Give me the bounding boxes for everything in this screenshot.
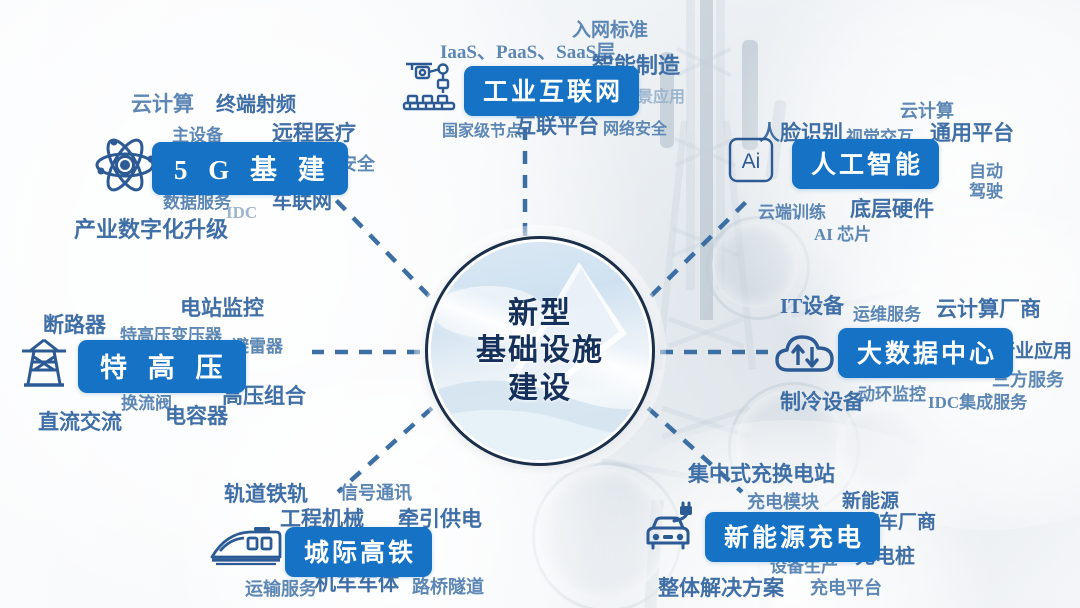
keyword-ai-8: AI 芯片	[814, 220, 871, 245]
keyword-ii-6: 网络安全	[603, 115, 667, 139]
keyword-ne-7: 整体解决方案	[658, 572, 784, 602]
keyword-ne-1: 充电模块	[747, 488, 819, 514]
keyword-rail-1: 信号通讯	[340, 479, 412, 505]
sector-artificial-intelligence[interactable]: 云计算 人脸识别 视觉交互 通用平台 自动 驾驶 云端训练 底层硬件 AI 芯片…	[710, 95, 1080, 245]
atom-icon	[94, 134, 156, 196]
keyword-5g-8: 产业数字化升级	[74, 212, 228, 244]
sector-label-artificial-intelligence[interactable]: 人工智能	[792, 139, 939, 189]
sector-new-energy-charging[interactable]: 集中式充换电站 充电模块 新能源 汽车厂商 充电桩 设备生产 充电平台 整体解决…	[620, 450, 960, 605]
keyword-ii-4: 国家级节点	[442, 117, 522, 141]
keyword-bd-5: IDC集成服务	[928, 388, 1027, 413]
cloud-transfer-icon	[774, 330, 836, 376]
sector-industrial-internet[interactable]: 入网标准 IaaS、PaaS、SaaS层 智能制造 场景应用 国家级节点 互联平…	[390, 0, 700, 145]
keyword-bd-7: 制冷设备	[780, 386, 864, 416]
center-hub[interactable]: 新型 基础设施 建设	[428, 239, 652, 463]
keyword-uhv-6: 电容器	[165, 400, 228, 430]
hub-title-line-1: 新型	[508, 296, 572, 331]
hub-title-line-3: 建设	[508, 371, 572, 406]
keyword-ai-3: 通用平台	[930, 117, 1014, 147]
sector-label-intercity-rail[interactable]: 城际高铁	[285, 527, 432, 577]
keyword-ai-7: 底层硬件	[850, 193, 934, 223]
keyword-uhv-7: 直流交流	[38, 406, 122, 436]
hub-ring: 新型 基础设施 建设	[428, 239, 652, 463]
keyword-rail-4: 运输服务	[245, 575, 317, 601]
ai-badge-icon: Ai	[728, 137, 774, 183]
sector-label-industrial-internet[interactable]: 工业互联网	[464, 66, 639, 116]
sector-big-data-center[interactable]: IT设备 运维服务 云计算厂商 行业应用 三方服务 IDC集成服务 动环监控 制…	[760, 288, 1080, 418]
keyword-5g-1: 终端射频	[216, 88, 296, 117]
keyword-5g-7: IDC	[226, 203, 257, 223]
keyword-uhv-0: 电站监控	[180, 292, 264, 322]
sector-label-5g[interactable]: 5 G 基 建	[152, 142, 348, 195]
keyword-ne-6: 充电平台	[810, 574, 882, 600]
sector-5g[interactable]: 云计算 终端射频 主设备 远程医疗 信息安全 数据服务 车联网 IDC 产业数字…	[0, 0, 400, 250]
keyword-bd-2: 云计算厂商	[936, 293, 1041, 323]
keyword-ne-0: 集中式充换电站	[688, 458, 835, 488]
sector-label-big-data-center[interactable]: 大数据中心	[838, 328, 1013, 378]
keyword-ai-5: 驾驶	[969, 177, 1003, 202]
robot-arm-icon	[402, 58, 460, 110]
keyword-5g-0: 云计算	[131, 88, 194, 118]
keyword-bd-6: 动环监控	[858, 380, 926, 405]
ev-charging-icon	[642, 505, 700, 555]
sector-label-ultra-high-voltage[interactable]: 特 高 压	[78, 340, 246, 393]
keyword-bd-0: IT设备	[780, 290, 844, 320]
sector-intercity-rail[interactable]: 轨道铁轨 信号通讯 工程机械 牵引供电 运输服务 机车车体 路桥隧道 城际高铁	[180, 455, 480, 605]
infographic-canvas: 新型 基础设施 建设 云计算 终端射频 主设备 远程医疗 信息安全 数据服务 车…	[0, 0, 1080, 608]
sector-label-new-energy-charging[interactable]: 新能源充电	[705, 512, 880, 562]
power-pylon-icon	[18, 338, 70, 388]
train-icon	[210, 523, 282, 567]
hub-title: 新型 基础设施 建设	[431, 242, 649, 460]
hub-title-line-2: 基础设施	[476, 333, 604, 368]
svg-text:Ai: Ai	[742, 150, 761, 173]
keyword-bd-1: 运维服务	[853, 300, 921, 325]
keyword-uhv-1: 断路器	[43, 309, 106, 339]
sector-ultra-high-voltage[interactable]: 电站监控 断路器 特高压变压器 避雷器 高压组合 换流阀 电容器 直流交流 特 …	[10, 288, 330, 438]
keyword-ii-1: IaaS、PaaS、SaaS层	[440, 37, 615, 64]
